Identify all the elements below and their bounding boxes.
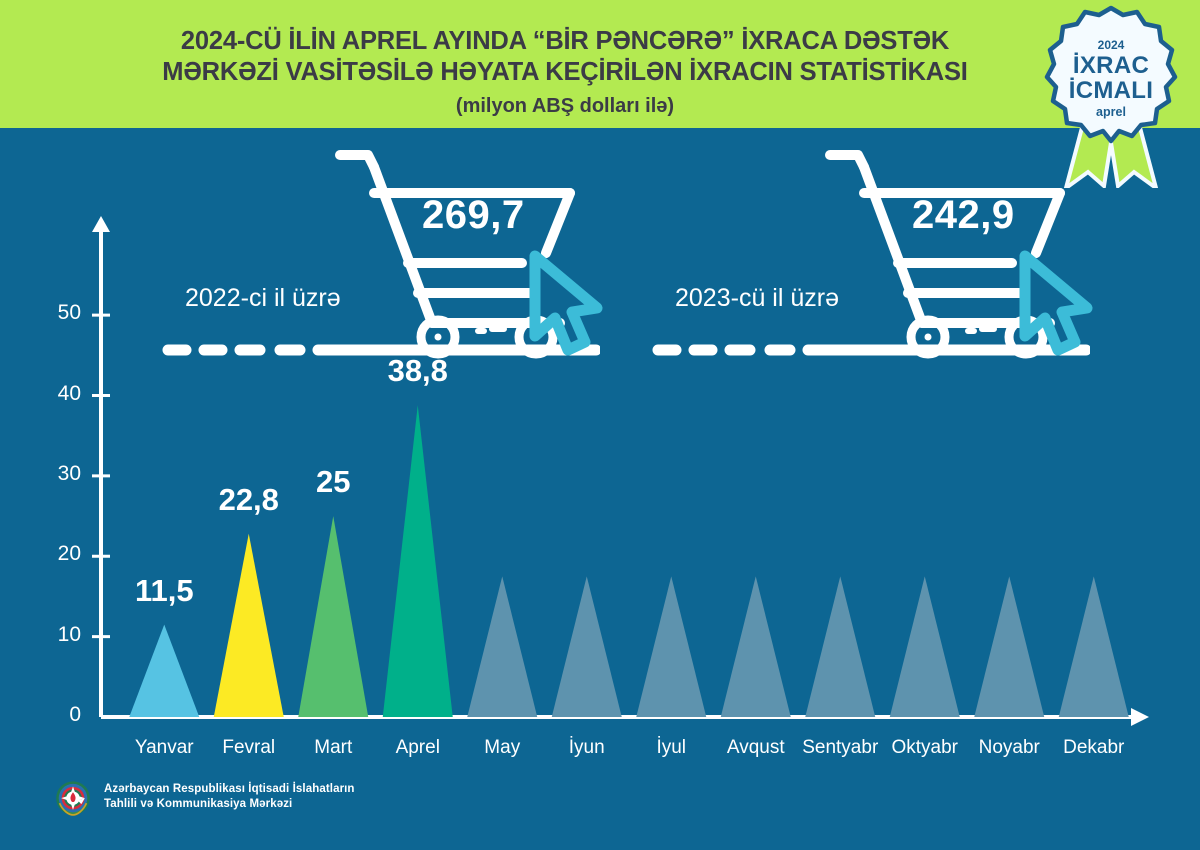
chart-spike-value: 25 bbox=[253, 464, 413, 500]
y-axis-tick-label: 40 bbox=[37, 382, 81, 406]
chart-spike[interactable] bbox=[383, 405, 453, 717]
chart-spike[interactable] bbox=[1059, 576, 1129, 717]
chart-spike[interactable] bbox=[298, 516, 368, 717]
chart-spike-value: 38,8 bbox=[338, 353, 498, 389]
y-axis-tick-label: 50 bbox=[37, 301, 81, 325]
y-axis-tick-label: 20 bbox=[37, 542, 81, 566]
x-axis-month-label: Dekabr bbox=[1024, 737, 1164, 759]
chart-canvas bbox=[0, 0, 1200, 850]
y-axis-tick-label: 0 bbox=[37, 703, 81, 727]
chart-area: 0102030405011,5Yanvar22,8Fevral25Mart38,… bbox=[0, 0, 1200, 850]
footer-org-name: Azərbaycan Respublikası İqtisadi İslahat… bbox=[104, 782, 355, 812]
chart-spike[interactable] bbox=[214, 534, 284, 717]
x-axis-arrow bbox=[1131, 708, 1149, 726]
chart-spike[interactable] bbox=[129, 625, 199, 717]
footer-line-2: Tahlili və Kommunikasiya Mərkəzi bbox=[104, 797, 355, 812]
chart-spike[interactable] bbox=[721, 576, 791, 717]
y-axis-tick-label: 30 bbox=[37, 462, 81, 486]
infographic-root: 2024-CÜ İLİN APREL AYINDA “BİR PƏNCƏRƏ” … bbox=[0, 0, 1200, 850]
chart-spike[interactable] bbox=[467, 576, 537, 717]
y-axis-arrow bbox=[92, 216, 110, 232]
chart-spike[interactable] bbox=[974, 576, 1044, 717]
azerbaijan-state-emblem-icon bbox=[52, 778, 94, 820]
y-axis-tick-label: 10 bbox=[37, 623, 81, 647]
chart-spike[interactable] bbox=[890, 576, 960, 717]
footer-line-1: Azərbaycan Respublikası İqtisadi İslahat… bbox=[104, 782, 355, 797]
footer: Azərbaycan Respublikası İqtisadi İslahat… bbox=[52, 776, 572, 826]
chart-spike[interactable] bbox=[552, 576, 622, 717]
chart-spike-value: 11,5 bbox=[84, 573, 244, 609]
chart-spike[interactable] bbox=[636, 576, 706, 717]
chart-spike[interactable] bbox=[805, 576, 875, 717]
